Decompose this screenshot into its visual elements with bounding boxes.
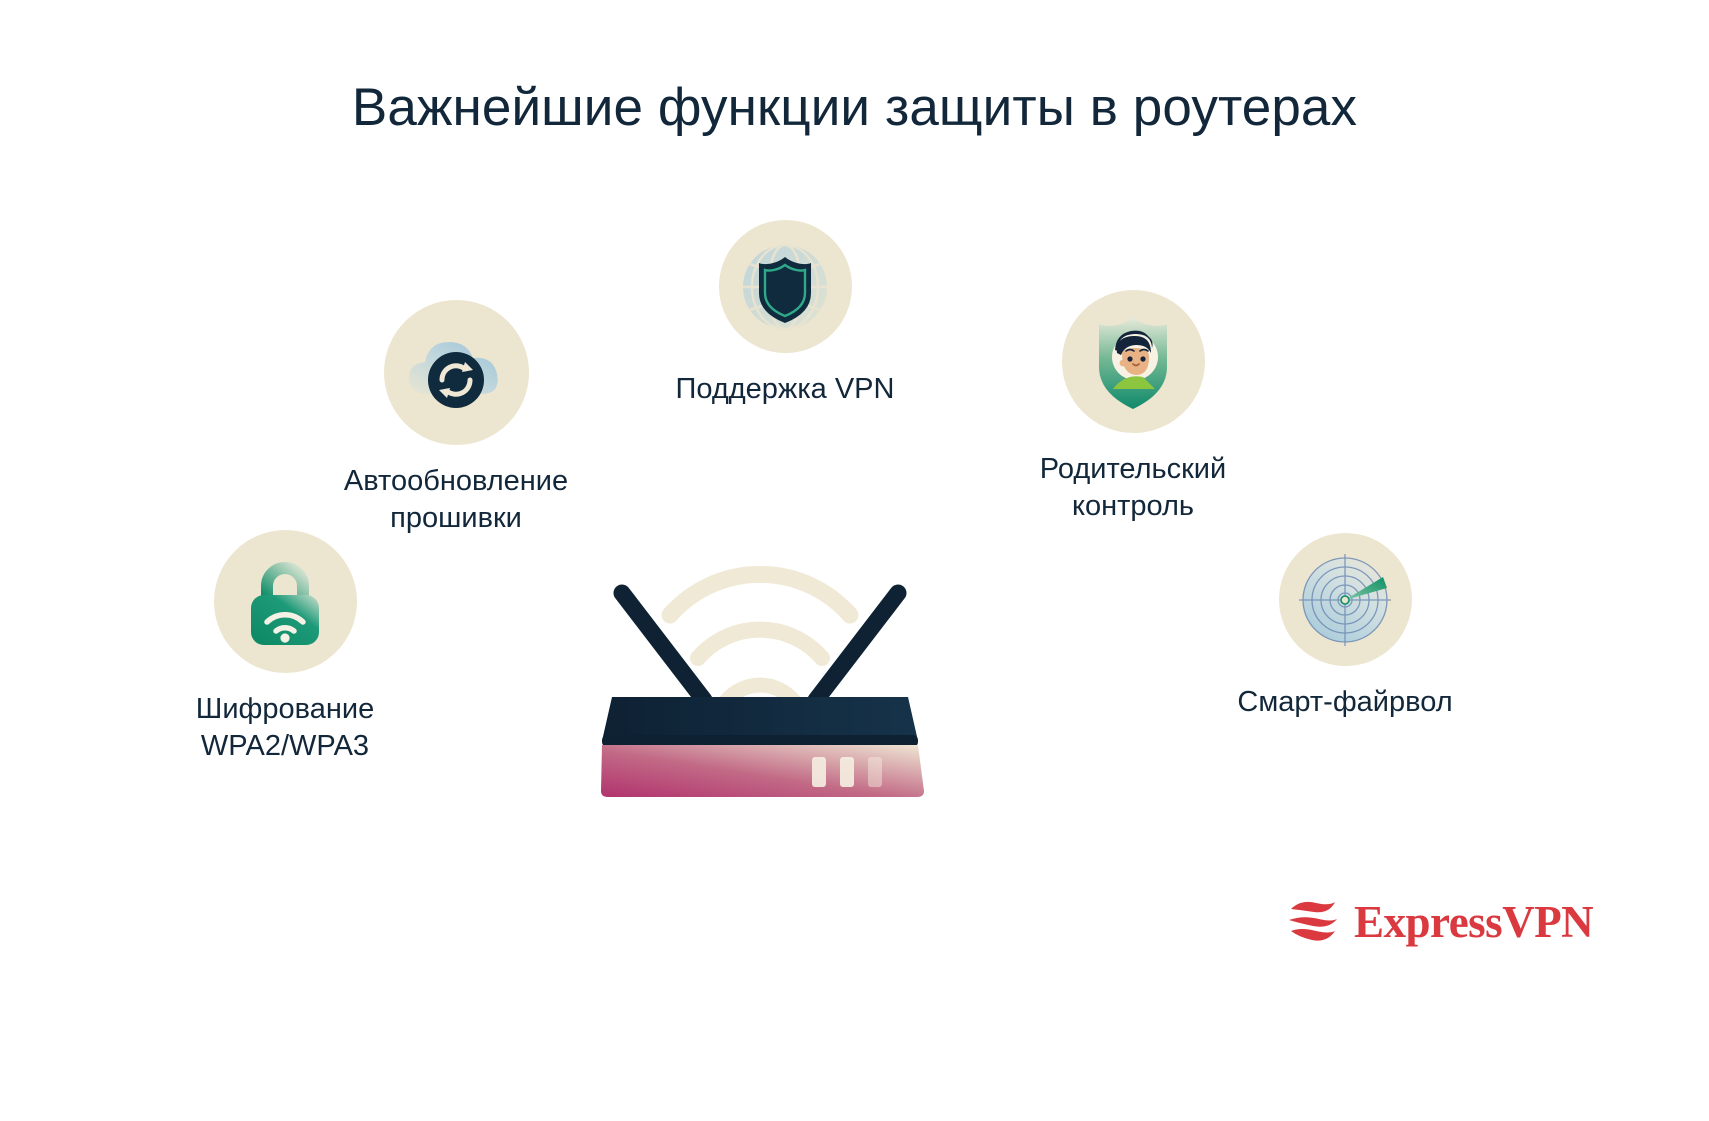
- feature-encryption[interactable]: Шифрование WPA2/WPA3: [120, 530, 450, 765]
- expressvpn-logo[interactable]: ExpressVPN: [1285, 893, 1593, 952]
- feature-label: Смарт-файрвол: [1237, 684, 1452, 721]
- cloud-sync-icon: [401, 318, 511, 428]
- feature-label: Шифрование WPA2/WPA3: [196, 691, 374, 765]
- infographic-canvas: Важнейшие функции защиты в роутерах: [0, 0, 1709, 1121]
- shield-child-icon: [1081, 307, 1185, 417]
- expressvpn-mark-icon: [1285, 893, 1341, 947]
- expressvpn-logo-text: ExpressVPN: [1354, 900, 1593, 945]
- feature-icon-bubble: [384, 300, 529, 445]
- expressvpn-logo-mark: [1285, 893, 1341, 952]
- radar-icon: [1295, 550, 1395, 650]
- feature-parental-control[interactable]: Родительский контроль: [963, 290, 1303, 525]
- page-title: Важнейшие функции защиты в роутерах: [0, 78, 1709, 139]
- feature-icon-bubble: [719, 220, 852, 353]
- feature-icon-bubble: [1062, 290, 1205, 433]
- feature-icon-bubble: [214, 530, 357, 673]
- globe-shield-icon: [733, 235, 837, 339]
- feature-firmware-update[interactable]: Автообновление прошивки: [281, 300, 631, 537]
- feature-smart-firewall[interactable]: Смарт-файрвол: [1175, 533, 1515, 721]
- feature-label: Автообновление прошивки: [344, 463, 568, 537]
- feature-label: Поддержка VPN: [676, 371, 895, 408]
- feature-icon-bubble: [1279, 533, 1412, 666]
- router-svg: [600, 545, 1000, 845]
- wifi-lock-icon: [233, 550, 337, 654]
- wifi-router-illustration: [600, 545, 1000, 845]
- feature-label: Родительский контроль: [1040, 451, 1226, 525]
- feature-vpn-support[interactable]: Поддержка VPN: [620, 220, 950, 408]
